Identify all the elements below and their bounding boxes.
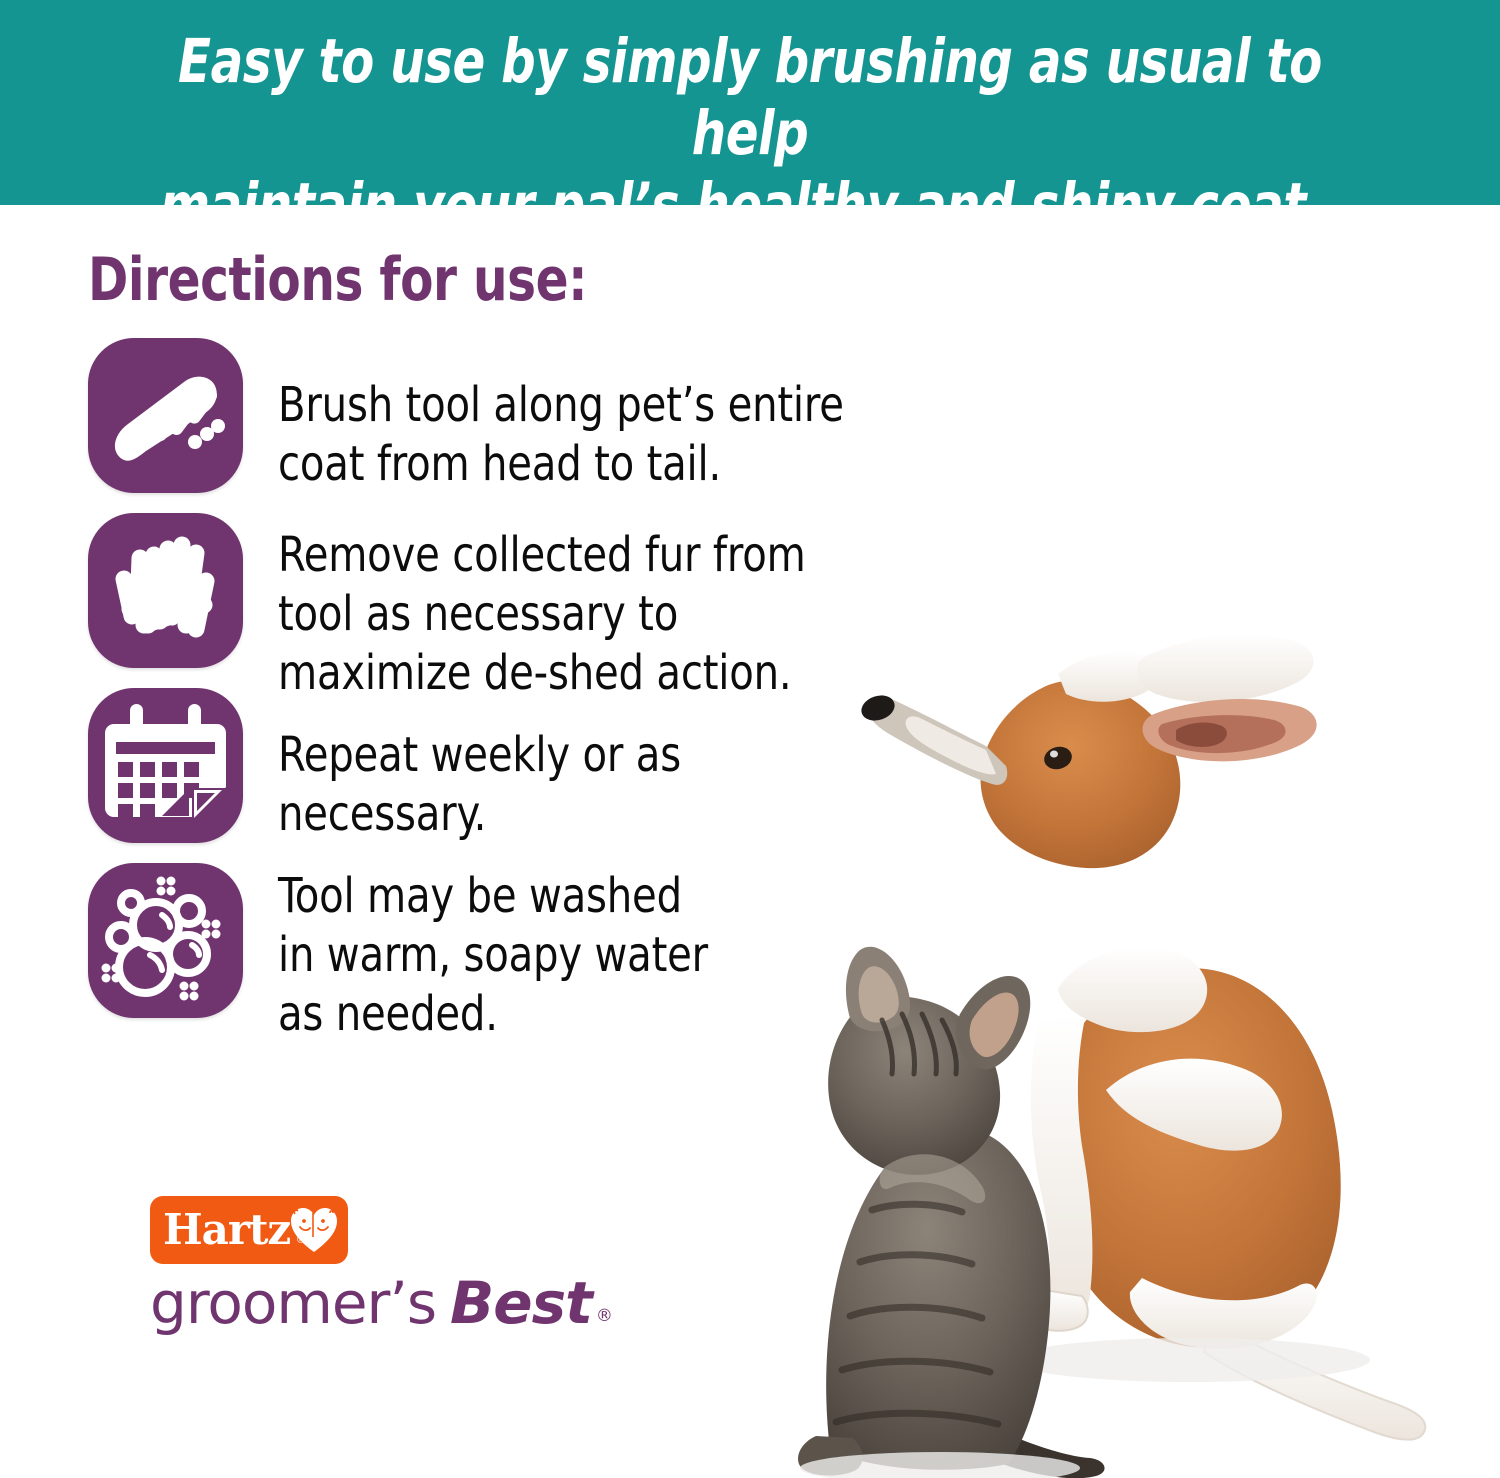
list-item-label: Repeat weekly or as necessary. <box>278 688 856 844</box>
list-item-label: Tool may be washed in warm, soapy water … <box>278 863 708 1044</box>
brand-logo: Hartz ® groomer’s <box>150 1196 670 1351</box>
list-item: Remove collected fur from tool as necess… <box>88 513 900 703</box>
hartz-badge: Hartz ® <box>150 1196 348 1264</box>
banner-headline: Easy to use by simply brushing as usual … <box>134 26 1366 242</box>
product-line-first: groomer’s <box>150 1270 436 1336</box>
hartz-wordmark: Hartz <box>163 1209 290 1251</box>
dog-and-cat-photo <box>790 590 1500 1478</box>
brush-icon <box>88 338 243 493</box>
product-line-registered-mark: ® <box>596 1283 612 1349</box>
product-infographic-page: Easy to use by simply brushing as usual … <box>0 0 1500 1478</box>
soap-bubbles-icon <box>88 863 243 1018</box>
fur-clump-icon <box>88 513 243 668</box>
list-item-label: Brush tool along pet’s entire coat from … <box>278 338 856 494</box>
list-item-label: Remove collected fur from tool as necess… <box>278 513 856 703</box>
list-item: Tool may be washed in warm, soapy water … <box>88 863 740 1044</box>
calendar-icon <box>88 688 243 843</box>
dog-cat-heart-icon <box>290 1207 338 1253</box>
header-banner: Easy to use by simply brushing as usual … <box>0 0 1500 205</box>
list-item: Brush tool along pet’s entire coat from … <box>88 338 900 494</box>
page-title: Directions for use: <box>88 248 587 312</box>
product-line-second: Best <box>450 1270 592 1336</box>
list-item: Repeat weekly or as necessary. <box>88 688 900 844</box>
product-line-wordmark: groomer’s Best ® <box>150 1270 670 1351</box>
